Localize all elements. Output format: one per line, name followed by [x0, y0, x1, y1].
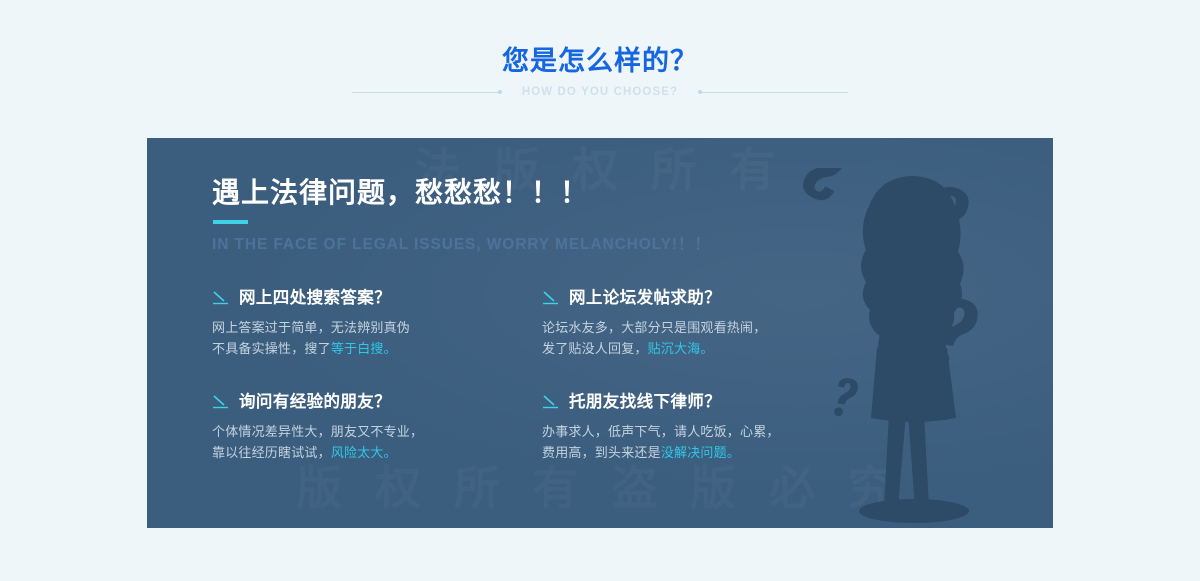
item-desc-line2: 靠以往经历瞎试试，: [212, 445, 331, 460]
item-description: 网上答案过于简单，无法辨别真伪 不具备实操性，搜了等于白搜。: [212, 317, 542, 359]
page-subtitle: HOW DO YOU CHOOSE?: [500, 86, 700, 98]
item-desc-highlight: 等于白搜。: [331, 341, 397, 356]
divider-line-left: [352, 92, 500, 93]
panel-content: 遇上法律问题，愁愁愁！！！ IN THE FACE OF LEGAL ISSUE…: [147, 138, 1053, 463]
divider-dot-right: [698, 90, 702, 94]
diagonal-stroke-icon: [542, 291, 560, 305]
item-description: 个体情况差异性大，朋友又不专业， 靠以往经历瞎试试，风险太大。: [212, 421, 542, 463]
title-accent-bar: [213, 220, 248, 224]
subtitle-row: HOW DO YOU CHOOSE?: [0, 86, 1200, 98]
list-item: 网上论坛发帖求助？ 论坛水友多，大部分只是围观看热闹， 发了贴没人回复，贴沉大海…: [542, 288, 872, 359]
item-header: 网上四处搜索答案？: [212, 288, 542, 308]
diagonal-stroke-icon: [542, 395, 560, 409]
item-title: 网上论坛发帖求助？: [569, 288, 721, 308]
item-description: 办事求人，低声下气，请人吃饭，心累， 费用高，到头来还是没解决问题。: [542, 421, 872, 463]
item-desc-line2: 发了贴没人回复，: [542, 341, 648, 356]
list-item: 询问有经验的朋友？ 个体情况差异性大，朋友又不专业， 靠以往经历瞎试试，风险太大…: [212, 392, 542, 463]
item-desc-highlight: 贴沉大海。: [648, 341, 714, 356]
problem-items-grid: 网上四处搜索答案？ 网上答案过于简单，无法辨别真伪 不具备实操性，搜了等于白搜。…: [212, 288, 1053, 463]
item-desc-highlight: 风险太大。: [331, 445, 397, 460]
page-header: 您是怎么样的？ HOW DO YOU CHOOSE?: [0, 0, 1200, 98]
divider-dot-left: [498, 90, 502, 94]
item-desc-highlight: 没解决问题。: [661, 445, 740, 460]
item-header: 询问有经验的朋友？: [212, 392, 542, 412]
page-title: 您是怎么样的？: [0, 44, 1200, 78]
list-item: 托朋友找线下律师？ 办事求人，低声下气，请人吃饭，心累， 费用高，到头来还是没解…: [542, 392, 872, 463]
item-header: 网上论坛发帖求助？: [542, 288, 872, 308]
divider-line-right: [700, 92, 848, 93]
item-desc-line1: 个体情况差异性大，朋友又不专业，: [212, 424, 423, 439]
item-desc-line1: 网上答案过于简单，无法辨别真伪: [212, 320, 410, 335]
diagonal-stroke-icon: [212, 291, 230, 305]
panel-subtitle: IN THE FACE OF LEGAL ISSUES, WORRY MELAN…: [212, 232, 1053, 254]
item-title: 托朋友找线下律师？: [569, 392, 721, 412]
item-desc-line1: 论坛水友多，大部分只是围观看热闹，: [542, 320, 766, 335]
list-item: 网上四处搜索答案？ 网上答案过于简单，无法辨别真伪 不具备实操性，搜了等于白搜。: [212, 288, 542, 359]
item-header: 托朋友找线下律师？: [542, 392, 872, 412]
panel-title: 遇上法律问题，愁愁愁！！！: [212, 176, 1053, 210]
item-desc-line1: 办事求人，低声下气，请人吃饭，心累，: [542, 424, 780, 439]
item-title: 网上四处搜索答案？: [239, 288, 391, 308]
item-description: 论坛水友多，大部分只是围观看热闹， 发了贴没人回复，贴沉大海。: [542, 317, 872, 359]
item-desc-line2: 不具备实操性，搜了: [212, 341, 331, 356]
item-desc-line2: 费用高，到头来还是: [542, 445, 661, 460]
content-panel: 法 版 权 所 有 版 权 所 有 盗 版 必 究: [147, 138, 1053, 528]
diagonal-stroke-icon: [212, 395, 230, 409]
item-title: 询问有经验的朋友？: [239, 392, 391, 412]
